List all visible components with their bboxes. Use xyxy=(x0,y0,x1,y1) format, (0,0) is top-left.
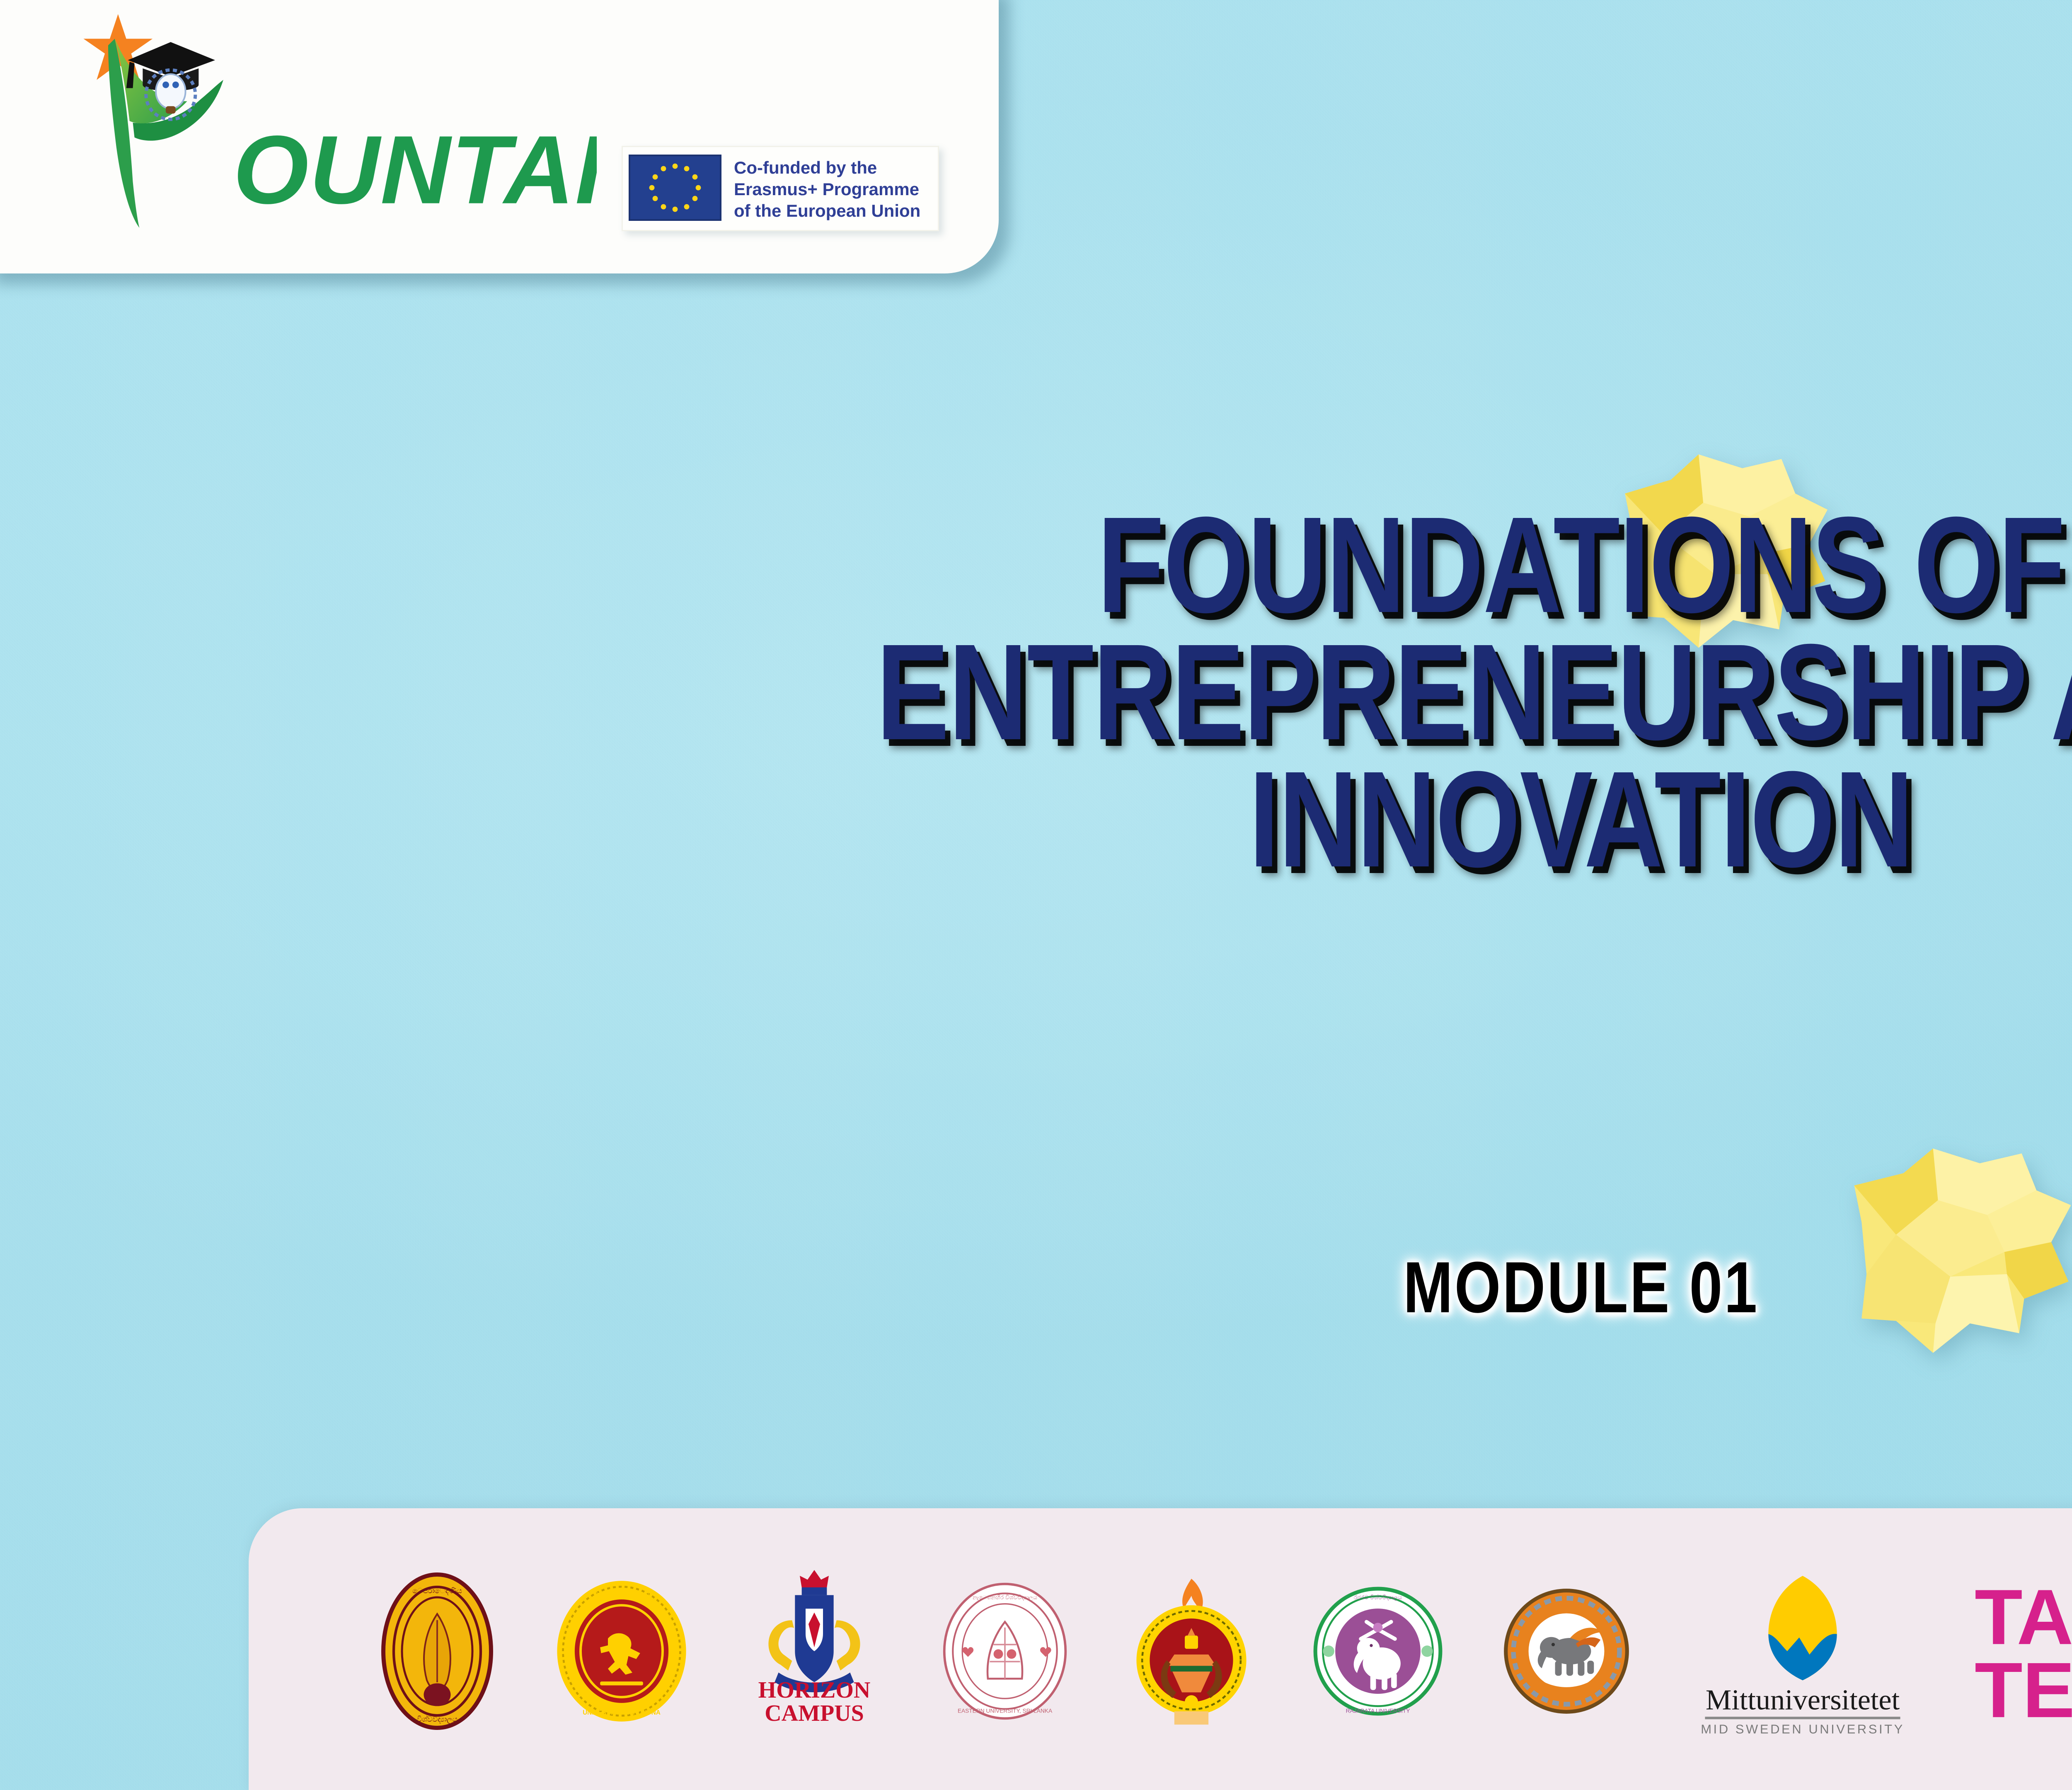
partner-logo-peradeniya: ෙපරාෙදණිය විශ්වවිද්‍යාලය xyxy=(348,1554,526,1749)
svg-text:රුහුණ විශ්වවිද්‍යාලය: රුහුණ විශ්වවිද්‍යාලය xyxy=(594,1589,649,1598)
svg-text:UNIVERSITY OF RUHUNA: UNIVERSITY OF RUHUNA xyxy=(583,1709,661,1716)
eu-flag-icon xyxy=(629,155,721,220)
partner-logo-taltech: TAL TECH xyxy=(1944,1554,2072,1749)
svg-text:EASTERN UNIVERSITY, SRI LANKA: EASTERN UNIVERSITY, SRI LANKA xyxy=(958,1708,1053,1714)
slide-canvas: I D E A FOUNDATIONS OF ENTREPRENEURSHIP … xyxy=(0,0,2072,1790)
module-subtitle: MODULE 01 xyxy=(448,1251,2072,1324)
svg-text:රජරට විශ්වවිද්‍යාලය: රජරට විශ්වවිද්‍යාලය xyxy=(1354,1594,1402,1601)
title-line-3: INNOVATION xyxy=(674,756,2072,883)
partner-logo-mittuniversitetet: Mittuniversitetet MID SWEDEN UNIVERSITY xyxy=(1662,1554,1944,1749)
mittuniversitetet-label-line-1: Mittuniversitetet xyxy=(1706,1684,1900,1716)
partner-logo-colombo xyxy=(1471,1554,1662,1749)
partner-logo-ruhuna: රුහුණ විශ්වවිද්‍යාලය UNIVERSITY OF RUHUN… xyxy=(526,1554,717,1749)
partner-logo-eastern-university: නැෙගනහිර විශ්වවිද්‍යාලය EASTERN UNIVERSI… xyxy=(912,1554,1098,1749)
partner-logo-bar: ෙපරාෙදණිය විශ්වවිද්‍යාලය රුහුණ විශ්වවිද්… xyxy=(249,1508,2072,1790)
svg-text:RAJARATA UNIVERSITY: RAJARATA UNIVERSITY xyxy=(1346,1708,1410,1714)
fountain-logo-name: FOUNTAIN xyxy=(54,232,54,232)
mittuniversitetet-label-line-2: MID SWEDEN UNIVERSITY xyxy=(1701,1722,1905,1736)
taltech-label-line-2: TECH xyxy=(1975,1647,2072,1732)
module-subtitle-text: MODULE 01 xyxy=(1403,1251,1759,1324)
mittuniversitetet-mark-icon xyxy=(1768,1576,1837,1680)
slide-title: FOUNDATIONS OF ENTREPRENEURSHIP AND INNO… xyxy=(448,501,2072,883)
eu-badge-line-3: of the European Union xyxy=(734,201,920,220)
fountain-wordmark: OUNTAIN xyxy=(233,115,597,224)
title-line-2: ENTREPRENEURSHIP AND xyxy=(674,629,2072,756)
partner-logo-jaffna xyxy=(1098,1554,1285,1749)
svg-text:ෙපරාෙදණිය: ෙපරාෙදණිය xyxy=(412,1587,462,1595)
partner-logo-horizon-campus: HORIZON CAMPUS xyxy=(717,1554,912,1749)
svg-text:විශ්වවිද්‍යාලය: විශ්වවිද්‍යාලය xyxy=(417,1715,458,1724)
horizon-label-line-1: HORIZON xyxy=(758,1677,871,1703)
fountain-project-logo: OUNTAIN FOUNTAIN xyxy=(54,8,597,232)
svg-text:නැෙගනහිර විශ්වවිද්‍යාලය: නැෙගනහිර විශ්වවිද්‍යාලය xyxy=(973,1594,1037,1601)
partner-logo-rajarata: රජරට විශ්වවිද්‍යාලය RAJARATA UNIVERSITY xyxy=(1285,1554,1471,1749)
eu-badge-line-2: Erasmus+ Programme xyxy=(734,179,919,199)
eu-erasmus-badge: Co-funded by the Erasmus+ Programme of t… xyxy=(622,146,939,231)
title-line-1: FOUNDATIONS OF xyxy=(674,501,2072,629)
eu-badge-line-1: Co-funded by the xyxy=(734,158,877,177)
horizon-label-line-2: CAMPUS xyxy=(765,1700,864,1726)
header-card: OUNTAIN FOUNTAIN Co-funded by th xyxy=(0,0,999,273)
